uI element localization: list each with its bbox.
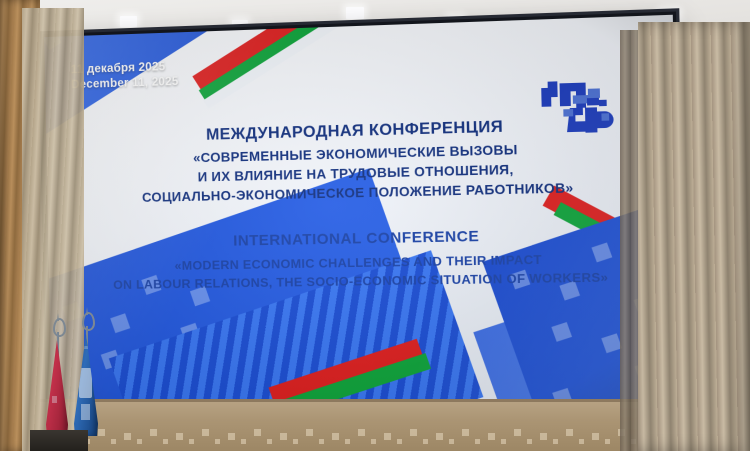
flag-emblem <box>81 404 90 420</box>
ceiling-light <box>232 20 248 30</box>
curtain-right <box>638 22 750 451</box>
flag-finial-icon <box>53 318 66 337</box>
flag-emblem <box>49 346 55 355</box>
flag-cloth <box>46 340 68 436</box>
flag-cloth <box>74 334 98 436</box>
flag-emblem <box>79 368 92 398</box>
ceiling-light <box>120 16 137 27</box>
podium-base <box>30 430 88 451</box>
flag-finial-icon <box>82 312 95 331</box>
ceiling-light <box>346 7 364 19</box>
conference-hall-photo: 11 декабря 2025 December 11, 2025 <box>0 0 750 451</box>
led-presentation-screen: 11 декабря 2025 December 11, 2025 <box>44 15 681 415</box>
flag-emblem <box>52 396 57 403</box>
flag-emblem <box>78 346 92 349</box>
slide-date-block: 11 декабря 2025 December 11, 2025 <box>71 60 179 93</box>
